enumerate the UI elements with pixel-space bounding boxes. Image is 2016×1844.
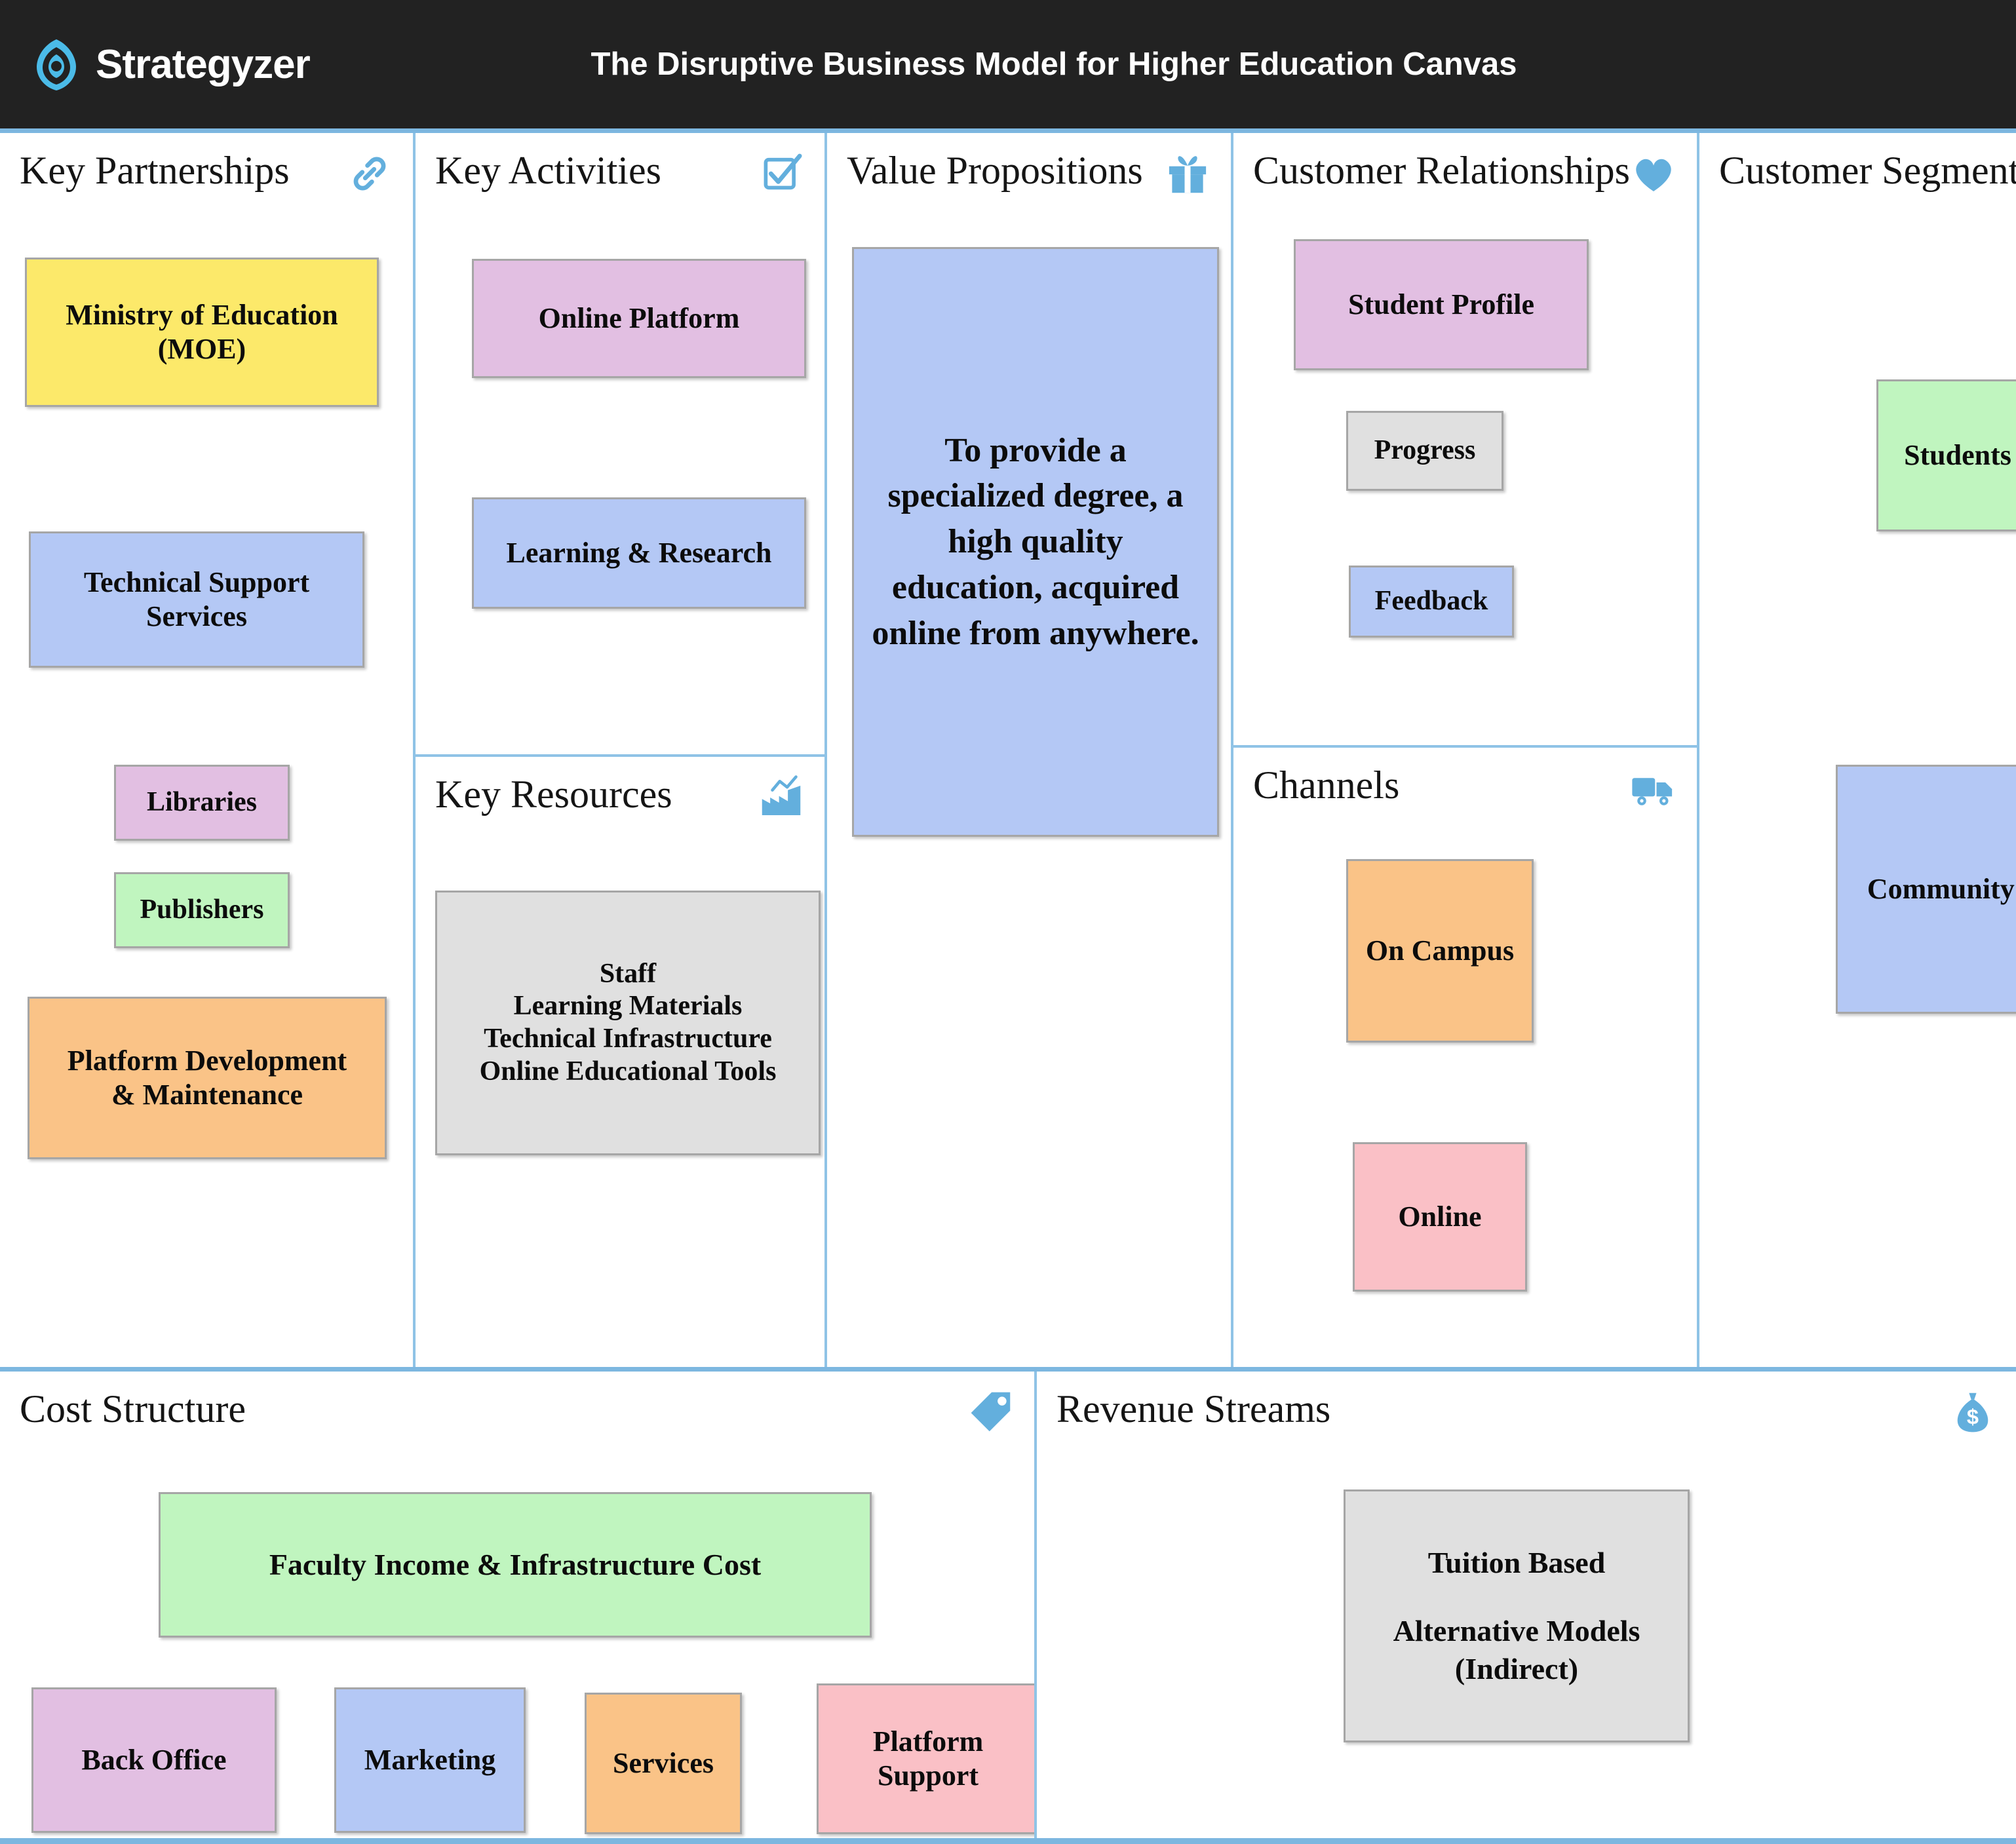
sticky-note[interactable]: Feedback (1349, 566, 1514, 638)
value-propositions-notes: To provide a specialized degree, a high … (847, 210, 1211, 1354)
checkbox-checked-icon (758, 150, 805, 197)
sticky-note[interactable]: Ministry of Education (MOE) (25, 258, 379, 407)
canvas-header: Strategyzer The Disruptive Business Mode… (0, 0, 2016, 128)
delivery-truck-icon (1630, 765, 1677, 812)
revenue-note-line-1: Tuition Based (1428, 1544, 1606, 1582)
customer-relationships-notes: Student Profile Progress Feedback (1253, 210, 1677, 732)
revenue-streams-title: Revenue Streams (1056, 1389, 1330, 1430)
key-activities-title: Key Activities (435, 150, 661, 191)
page-title: The Disruptive Business Model for Higher… (419, 46, 2016, 83)
sticky-note[interactable]: Faculty Income & Infrastructure Cost (159, 1492, 872, 1638)
channels-title: Channels (1253, 765, 1399, 806)
sticky-note[interactable]: Progress (1346, 411, 1503, 491)
customer-segments-notes: Students Community Members (1719, 210, 1996, 1354)
sticky-note[interactable]: Back Office (31, 1687, 277, 1833)
money-bag-icon: $ (1949, 1389, 1996, 1436)
block-customer-relationships[interactable]: Customer Relationships Student Profile P… (1233, 133, 1697, 748)
block-revenue-streams[interactable]: Revenue Streams $ Tuition Based Alternat… (1037, 1372, 2016, 1838)
sticky-note[interactable]: Online (1353, 1142, 1527, 1292)
key-partnerships-title: Key Partnerships (20, 150, 290, 191)
brand-name: Strategyzer (96, 41, 310, 88)
channels-header: Channels (1253, 765, 1677, 821)
block-cost-structure[interactable]: Cost Structure Faculty Income & Infrastr… (0, 1372, 1037, 1838)
value-propositions-title: Value Propositions (847, 150, 1143, 191)
sticky-note[interactable]: Online Platform (472, 259, 806, 378)
block-customer-segments[interactable]: Customer Segments Students Community Mem… (1699, 133, 2016, 1367)
block-value-propositions[interactable]: Value Propositions To provide a speciali… (827, 133, 1233, 1367)
sticky-note[interactable]: Platform Development & Maintenance (28, 997, 387, 1159)
block-channels[interactable]: Channels (1233, 748, 1697, 1367)
customer-segments-title: Customer Segments (1719, 150, 2016, 191)
sticky-note[interactable]: Tuition Based Alternative Models (Indire… (1344, 1489, 1690, 1742)
sticky-note[interactable]: Learning & Research (472, 497, 806, 609)
strategyzer-target-icon (29, 37, 84, 92)
key-activities-header: Key Activities (435, 150, 805, 206)
sticky-note[interactable]: Services (585, 1693, 742, 1834)
svg-text:$: $ (1967, 1404, 1979, 1429)
cost-structure-header: Cost Structure (20, 1389, 1015, 1445)
channels-notes: On Campus Online (1253, 825, 1677, 1354)
chain-link-icon (346, 150, 393, 197)
canvas-top-row: Key Partnerships Ministry of Education (… (0, 128, 2016, 1367)
heart-icon (1630, 150, 1677, 197)
sticky-note[interactable]: Staff Learning Materials Technical Infra… (435, 891, 821, 1155)
key-activities-notes: Online Platform Learning & Research (435, 210, 805, 741)
sticky-note[interactable]: On Campus (1346, 859, 1534, 1043)
sticky-note[interactable]: Technical Support Services (29, 531, 364, 668)
key-partnerships-header: Key Partnerships (20, 150, 393, 206)
cost-structure-title: Cost Structure (20, 1389, 246, 1430)
block-key-partnerships[interactable]: Key Partnerships Ministry of Education (… (0, 133, 416, 1367)
sticky-note[interactable]: Students (1876, 379, 2016, 531)
price-tag-icon (967, 1389, 1015, 1436)
value-propositions-header: Value Propositions (847, 150, 1211, 206)
sticky-note[interactable]: Libraries (114, 765, 290, 841)
cost-structure-notes: Faculty Income & Infrastructure Cost Bac… (20, 1449, 1015, 1825)
revenue-note-line-2: Alternative Models (Indirect) (1393, 1612, 1640, 1688)
customer-relationships-title: Customer Relationships (1253, 150, 1630, 191)
revenue-streams-notes: Tuition Based Alternative Models (Indire… (1056, 1449, 1996, 1825)
brand-block: Strategyzer (0, 37, 419, 92)
canvas-bottom-row: Cost Structure Faculty Income & Infrastr… (0, 1367, 2016, 1844)
customer-relationships-header: Customer Relationships (1253, 150, 1677, 206)
business-model-canvas: Strategyzer The Disruptive Business Mode… (0, 0, 2016, 1844)
key-resources-header: Key Resources (435, 774, 805, 830)
customer-segments-header: Customer Segments (1719, 150, 1996, 206)
key-resources-notes: Staff Learning Materials Technical Infra… (435, 834, 805, 1354)
canvas-body: Key Partnerships Ministry of Education (… (0, 128, 2016, 1844)
gift-icon (1164, 150, 1211, 197)
block-key-resources[interactable]: Key Resources Staff Learning Materials T… (416, 757, 824, 1367)
block-key-activities[interactable]: Key Activities Online Platform Learning … (416, 133, 824, 757)
revenue-streams-header: Revenue Streams $ (1056, 1389, 1996, 1445)
sticky-note[interactable]: Publishers (114, 872, 290, 948)
sticky-note[interactable]: Student Profile (1294, 239, 1589, 370)
column-activities-resources: Key Activities Online Platform Learning … (416, 133, 827, 1367)
sticky-note[interactable]: Marketing (334, 1687, 526, 1833)
sticky-note[interactable]: To provide a specialized degree, a high … (852, 247, 1219, 837)
key-partnerships-notes: Ministry of Education (MOE) Technical Su… (20, 210, 393, 1354)
factory-chart-icon (758, 774, 805, 821)
sticky-note[interactable]: Platform Support (817, 1683, 1037, 1834)
key-resources-title: Key Resources (435, 774, 672, 815)
column-relationships-channels: Customer Relationships Student Profile P… (1233, 133, 1699, 1367)
sticky-note[interactable]: Community Members (1836, 765, 2016, 1014)
